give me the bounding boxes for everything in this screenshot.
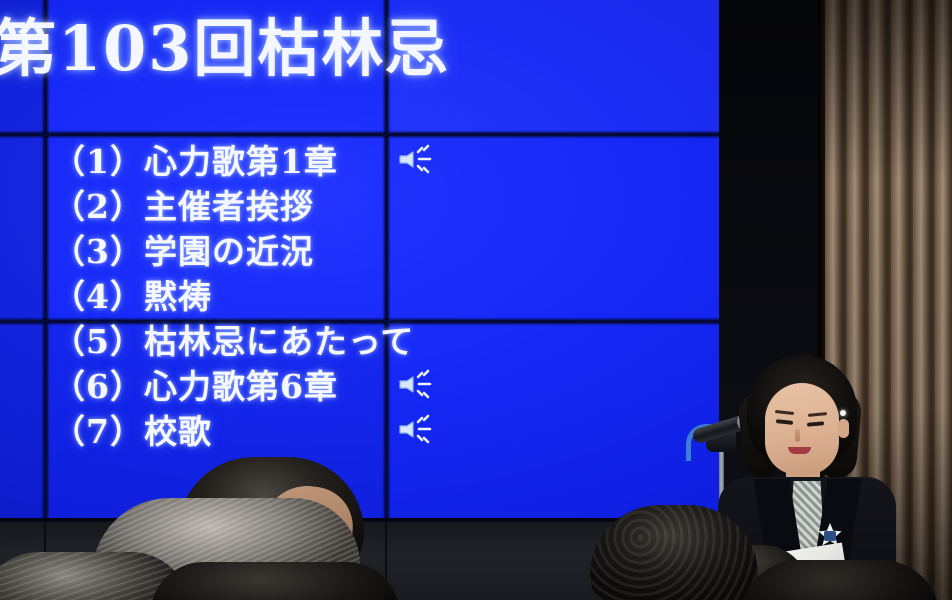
speaker-sound-icon	[397, 144, 439, 174]
program-item-7: （7）校歌	[52, 406, 414, 451]
program-item-2-label: （2）主催者挨拶	[52, 180, 314, 228]
slide-title: 第103回枯林忌	[0, 18, 449, 80]
program-item-5: （5）枯林忌にあたって	[52, 316, 414, 361]
presenter-earring	[840, 410, 846, 416]
program-item-1-label: （1）心力歌第1章	[52, 135, 338, 183]
presenter-lapel-badge-center	[824, 531, 836, 541]
program-item-4-label: （4）黙祷	[52, 270, 212, 318]
presenter-ear	[838, 419, 849, 438]
audience-head-center-front	[150, 562, 400, 600]
program-item-4: （4）黙祷	[52, 271, 414, 316]
speaker-sound-icon	[397, 414, 439, 444]
presenter-face	[765, 383, 839, 475]
speaker-sound-icon	[397, 369, 439, 399]
program-list: （1）心力歌第1章 （2）主催者挨拶	[52, 136, 414, 451]
program-item-6-label: （6）心力歌第6章	[52, 360, 338, 408]
program-item-2: （2）主催者挨拶	[52, 181, 414, 226]
program-item-7-label: （7）校歌	[52, 405, 212, 453]
led-video-wall: 第103回枯林忌 （1）心力歌第1章	[0, 0, 719, 521]
slide-content: 第103回枯林忌 （1）心力歌第1章	[0, 0, 719, 521]
program-item-5-label: （5）枯林忌にあたって	[52, 315, 414, 363]
presenter-nose	[795, 429, 800, 442]
program-item-1: （1）心力歌第1章	[52, 136, 414, 181]
program-item-3: （3）学園の近況	[52, 226, 414, 271]
program-item-6: （6）心力歌第6章	[52, 361, 414, 406]
program-item-3-label: （3）学園の近況	[52, 225, 314, 273]
screenshot-root: 第103回枯林忌 （1）心力歌第1章	[0, 0, 952, 600]
presenter-mouth	[788, 447, 811, 454]
